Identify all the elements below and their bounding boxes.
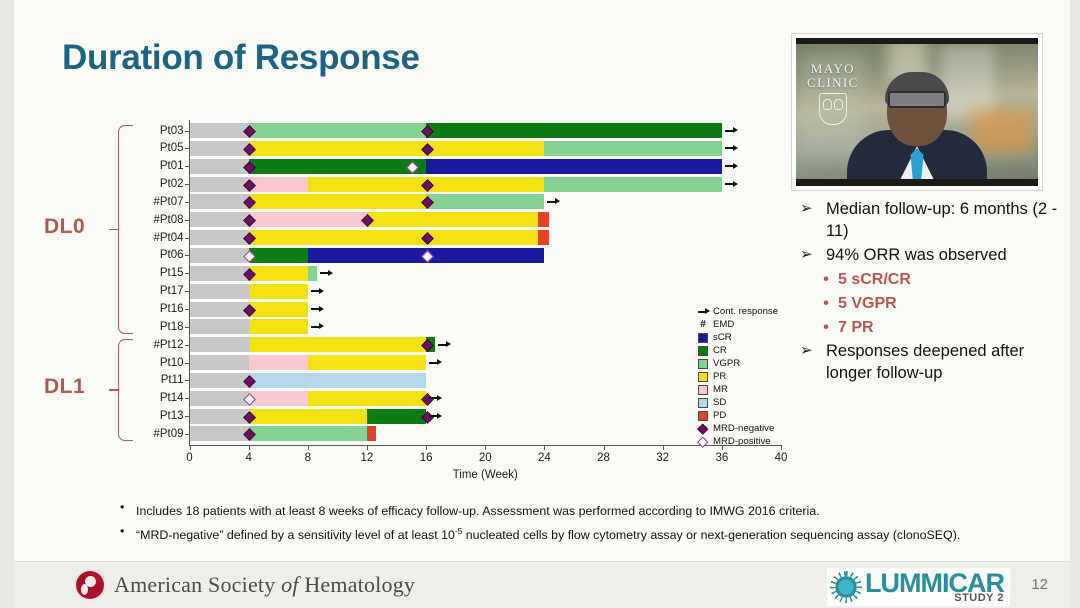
bar-segment-pr	[249, 266, 308, 281]
bar-segment-vgpr	[308, 266, 317, 281]
chevron-right-icon: ➢	[800, 198, 826, 242]
mrd-positive-icon	[698, 438, 708, 446]
bar-segment-screening	[190, 426, 249, 441]
legend-item-mr: MR	[698, 383, 798, 396]
legend-label: PD	[713, 410, 726, 421]
bullet-dot-icon: •	[814, 292, 838, 316]
y-axis-tick	[185, 291, 190, 292]
swimmer-row	[190, 426, 782, 441]
bar-segment-pr	[249, 337, 426, 352]
bar-segment-pr	[249, 141, 545, 156]
legend-item-pr: PR	[698, 370, 798, 383]
x-axis-tick-label: 12	[361, 452, 374, 464]
legend-swatch-icon	[698, 398, 708, 408]
x-axis-tick-label: 4	[245, 452, 251, 464]
footnote-bullet-icon: •	[120, 498, 136, 521]
y-axis-tick	[185, 184, 190, 185]
bar-segment-screening	[190, 177, 249, 192]
y-axis-tick	[185, 398, 190, 399]
swimmer-row	[190, 123, 782, 138]
ash-seal-icon	[76, 571, 104, 599]
swimmer-row	[190, 141, 782, 156]
mayo-logo-line2: CLINIC	[807, 76, 859, 90]
lummicar-sun-icon	[833, 574, 859, 600]
summary-bullets: ➢Median follow-up: 6 months (2 - 11)➢94%…	[800, 198, 1068, 386]
legend-item-emd: #EMD	[698, 318, 798, 331]
bar-segment-screening	[190, 123, 249, 138]
continued-response-arrow	[311, 288, 325, 295]
x-axis-tick-label: 8	[305, 452, 311, 464]
bar-segment-mr	[249, 177, 308, 192]
x-axis-tick-label: 16	[420, 452, 433, 464]
bar-segment-screening	[190, 373, 249, 388]
y-axis-tick	[185, 255, 190, 256]
legend-label: VGPR	[713, 358, 740, 369]
swimmer-row	[190, 337, 782, 352]
bar-segment-pr	[308, 355, 426, 370]
sponsor-logo: LUMMICAR STUDY 2	[827, 568, 1010, 606]
summary-bullet: ➢Median follow-up: 6 months (2 - 11)	[800, 198, 1068, 242]
bar-segment-pr	[249, 409, 367, 424]
ash-text-of: of	[281, 572, 299, 597]
legend-label: EMD	[713, 319, 734, 330]
continued-response-arrow	[725, 181, 739, 188]
dose-level-bracket-stem	[109, 389, 118, 391]
bar-segment-cr	[249, 248, 308, 263]
bar-segment-screening	[190, 355, 249, 370]
x-axis-tick-label: 40	[775, 452, 788, 464]
swimmer-row	[190, 409, 782, 424]
legend-swatch-icon	[698, 346, 708, 356]
footnote: •“MRD-negative” defined by a sensitivity…	[120, 522, 1000, 545]
swimmer-row	[190, 248, 782, 263]
legend-label: MRD-positive	[713, 436, 771, 447]
footnote-bullet-icon: •	[120, 522, 136, 545]
swimmer-row	[190, 391, 782, 406]
ash-text-post: Hematology	[299, 572, 415, 597]
dose-level-label-dl1: DL1	[44, 375, 85, 399]
swimmer-row	[190, 194, 782, 209]
legend-item-sd: SD	[698, 396, 798, 409]
bar-segment-pd	[538, 212, 548, 227]
y-axis-tick	[185, 416, 190, 417]
bar-segment-vgpr	[426, 194, 544, 209]
video-bg-blur-orange	[970, 109, 1033, 153]
continued-response-arrow	[311, 323, 325, 330]
continued-response-arrow	[438, 341, 452, 348]
bar-segment-scr	[426, 159, 722, 174]
footnote-text: “MRD-negative” defined by a sensitivity …	[136, 522, 960, 545]
legend-item-vgpr: VGPR	[698, 357, 798, 370]
continued-response-arrow	[429, 359, 443, 366]
bullet-text: Responses deepened after longer follow-u…	[826, 340, 1068, 384]
continued-response-arrow	[320, 270, 334, 277]
legend-item-cr: CR	[698, 344, 798, 357]
y-axis-tick	[185, 202, 190, 203]
legend-label: sCR	[713, 332, 732, 343]
sub-bullet-text: 5 VGPR	[838, 292, 897, 316]
bar-segment-cr	[249, 159, 426, 174]
lummicar-wordmark: LUMMICAR STUDY 2	[865, 570, 1004, 604]
presenter-glasses	[888, 91, 946, 108]
bar-segment-pr	[367, 212, 539, 227]
bar-segment-mr	[249, 212, 367, 227]
continued-response-arrow	[311, 306, 325, 313]
summary-bullet: ➢94% ORR was observed	[800, 244, 1068, 266]
swimmer-row	[190, 319, 782, 334]
ash-logo: American Society of Hematology	[76, 571, 415, 599]
x-axis-tick-label: 32	[656, 452, 669, 464]
bar-segment-screening	[190, 302, 249, 317]
legend-label: MR	[713, 384, 728, 395]
bullet-dot-icon: •	[814, 268, 838, 292]
bar-segment-screening	[190, 230, 249, 245]
bar-segment-screening	[190, 266, 249, 281]
presenter-video-thumbnail[interactable]: MAYO CLINIC	[791, 33, 1043, 191]
continued-response-arrow	[547, 198, 561, 205]
swimmer-row	[190, 177, 782, 192]
legend-swatch-icon	[698, 372, 708, 382]
x-axis-tick	[308, 445, 309, 450]
legend-item-scr: sCR	[698, 331, 798, 344]
bar-segment-screening	[190, 141, 249, 156]
bar-segment-pd	[367, 426, 376, 441]
continued-response-arrow	[429, 395, 443, 402]
x-axis-tick	[190, 445, 191, 450]
footnotes: •Includes 18 patients with at least 8 we…	[120, 498, 1000, 546]
bar-segment-screening	[190, 319, 249, 334]
continued-response-arrow	[725, 163, 739, 170]
bar-segment-vgpr	[544, 141, 721, 156]
swimmer-row	[190, 284, 782, 299]
x-axis-tick	[544, 445, 545, 450]
x-axis-tick-label: 24	[538, 452, 551, 464]
dose-level-bracket-stem	[109, 229, 118, 231]
bullet-dot-icon: •	[814, 316, 838, 340]
sub-bullet-text: 7 PR	[838, 316, 874, 340]
legend-swatch-icon	[698, 385, 708, 395]
mrd-negative-icon	[698, 425, 708, 433]
chevron-right-icon: ➢	[800, 340, 826, 384]
y-axis-tick	[185, 148, 190, 149]
x-axis-tick	[426, 445, 427, 450]
dose-level-bracket	[118, 125, 133, 334]
continued-response-arrow	[725, 145, 739, 152]
bar-segment-screening	[190, 159, 249, 174]
bar-segment-screening	[190, 212, 249, 227]
summary-sub-bullet: •7 PR	[800, 316, 1068, 340]
dose-level-label-dl0: DL0	[44, 215, 85, 239]
x-axis-tick	[367, 445, 368, 450]
bullet-text: Median follow-up: 6 months (2 - 11)	[826, 198, 1068, 242]
bar-segment-screening	[190, 248, 249, 263]
continued-response-arrow	[725, 127, 739, 134]
page-number: 12	[1031, 576, 1048, 593]
legend-label: CR	[713, 345, 727, 356]
legend-swatch-icon	[698, 333, 708, 343]
swimmer-row	[190, 159, 782, 174]
bar-segment-sd	[249, 373, 426, 388]
bar-segment-mr	[249, 391, 308, 406]
x-axis-tick	[663, 445, 664, 450]
legend-label: PR	[713, 371, 726, 382]
swimmer-plot: Pt03Pt05Pt01Pt02#Pt07#Pt08#Pt04Pt06Pt15P…	[0, 0, 800, 490]
slide-right-edge	[1070, 0, 1080, 608]
bar-segment-pr	[249, 194, 426, 209]
ash-text-pre: American Society	[114, 572, 281, 597]
bar-segment-pr	[308, 391, 426, 406]
legend-item-cont-response: Cont. response	[698, 305, 798, 318]
swimmer-row	[190, 230, 782, 245]
y-axis-tick	[185, 220, 190, 221]
y-axis-tick	[185, 327, 190, 328]
chevron-right-icon: ➢	[800, 244, 826, 266]
legend-swatch-icon	[698, 411, 708, 421]
y-axis-tick	[185, 434, 190, 435]
y-axis-tick	[185, 345, 190, 346]
summary-sub-bullet: •5 sCR/CR	[800, 268, 1068, 292]
y-axis-tick	[185, 380, 190, 381]
bar-segment-cr	[367, 409, 426, 424]
cont-response-arrow-icon	[698, 308, 710, 315]
bar-segment-pr	[249, 284, 308, 299]
bar-segment-pd	[538, 230, 548, 245]
bar-segment-screening	[190, 194, 249, 209]
bar-segment-vgpr	[544, 177, 721, 192]
bar-segment-screening	[190, 284, 249, 299]
mayo-clinic-logo: MAYO CLINIC	[807, 62, 859, 125]
y-axis-tick	[185, 309, 190, 310]
x-axis-tick-label: 20	[479, 452, 492, 464]
dose-level-bracket	[118, 339, 133, 441]
ash-logo-text: American Society of Hematology	[114, 572, 415, 598]
x-axis-tick-label: 36	[715, 452, 728, 464]
legend-item-mrd-positive: MRD-positive	[698, 435, 798, 448]
legend-label: Cont. response	[713, 306, 778, 317]
continued-response-arrow	[429, 413, 443, 420]
legend-item-pd: PD	[698, 409, 798, 422]
slide-canvas: Duration of Response MAYO CLINIC Pt03	[0, 0, 1080, 608]
swimmer-row	[190, 212, 782, 227]
bar-segment-pr	[249, 302, 308, 317]
legend-label: MRD-negative	[713, 423, 774, 434]
legend-swatch-icon	[698, 359, 708, 369]
slide-footer: American Society of Hematology LUMMICAR …	[14, 561, 1070, 608]
bar-segment-pr	[249, 230, 539, 245]
swimmer-row	[190, 355, 782, 370]
y-axis-tick	[185, 238, 190, 239]
x-axis-tick	[604, 445, 605, 450]
video-frame: MAYO CLINIC	[796, 38, 1038, 186]
y-axis-tick	[185, 363, 190, 364]
summary-sub-bullet: •5 VGPR	[800, 292, 1068, 316]
bar-segment-screening	[190, 409, 249, 424]
y-axis-tick	[185, 131, 190, 132]
video-letterbox-bottom	[796, 179, 1038, 186]
x-axis-tick	[249, 445, 250, 450]
x-axis-tick-label: 0	[186, 452, 192, 464]
legend-item-mrd-negative: MRD-negative	[698, 422, 798, 435]
chart-legend: Cont. response#EMDsCRCRVGPRPRMRSDPDMRD-n…	[698, 305, 798, 448]
swimmer-row	[190, 373, 782, 388]
bullet-text: 94% ORR was observed	[826, 244, 1007, 266]
swimmer-row	[190, 302, 782, 317]
footnote-text: Includes 18 patients with at least 8 wee…	[136, 498, 820, 521]
emd-hash-icon: #	[698, 319, 708, 330]
video-letterbox-top	[796, 38, 1038, 44]
bar-segment-vgpr	[249, 426, 367, 441]
sub-bullet-text: 5 sCR/CR	[838, 268, 911, 292]
bar-segment-mr	[249, 355, 308, 370]
legend-label: SD	[713, 397, 726, 408]
mayo-shield-icon	[819, 93, 847, 125]
y-axis-tick	[185, 166, 190, 167]
y-axis-tick	[185, 273, 190, 274]
bar-segment-cr	[426, 123, 722, 138]
bar-segment-vgpr	[249, 123, 426, 138]
x-axis-title: Time (Week)	[453, 469, 518, 481]
bar-segment-screening	[190, 337, 249, 352]
x-axis-tick-label: 28	[597, 452, 610, 464]
bar-segment-pr	[249, 319, 308, 334]
x-axis-tick	[485, 445, 486, 450]
mayo-logo-line1: MAYO	[807, 62, 859, 76]
swimmer-row	[190, 266, 782, 281]
footnote: •Includes 18 patients with at least 8 we…	[120, 498, 1000, 521]
summary-bullet: ➢Responses deepened after longer follow-…	[800, 340, 1068, 384]
bar-segment-screening	[190, 391, 249, 406]
